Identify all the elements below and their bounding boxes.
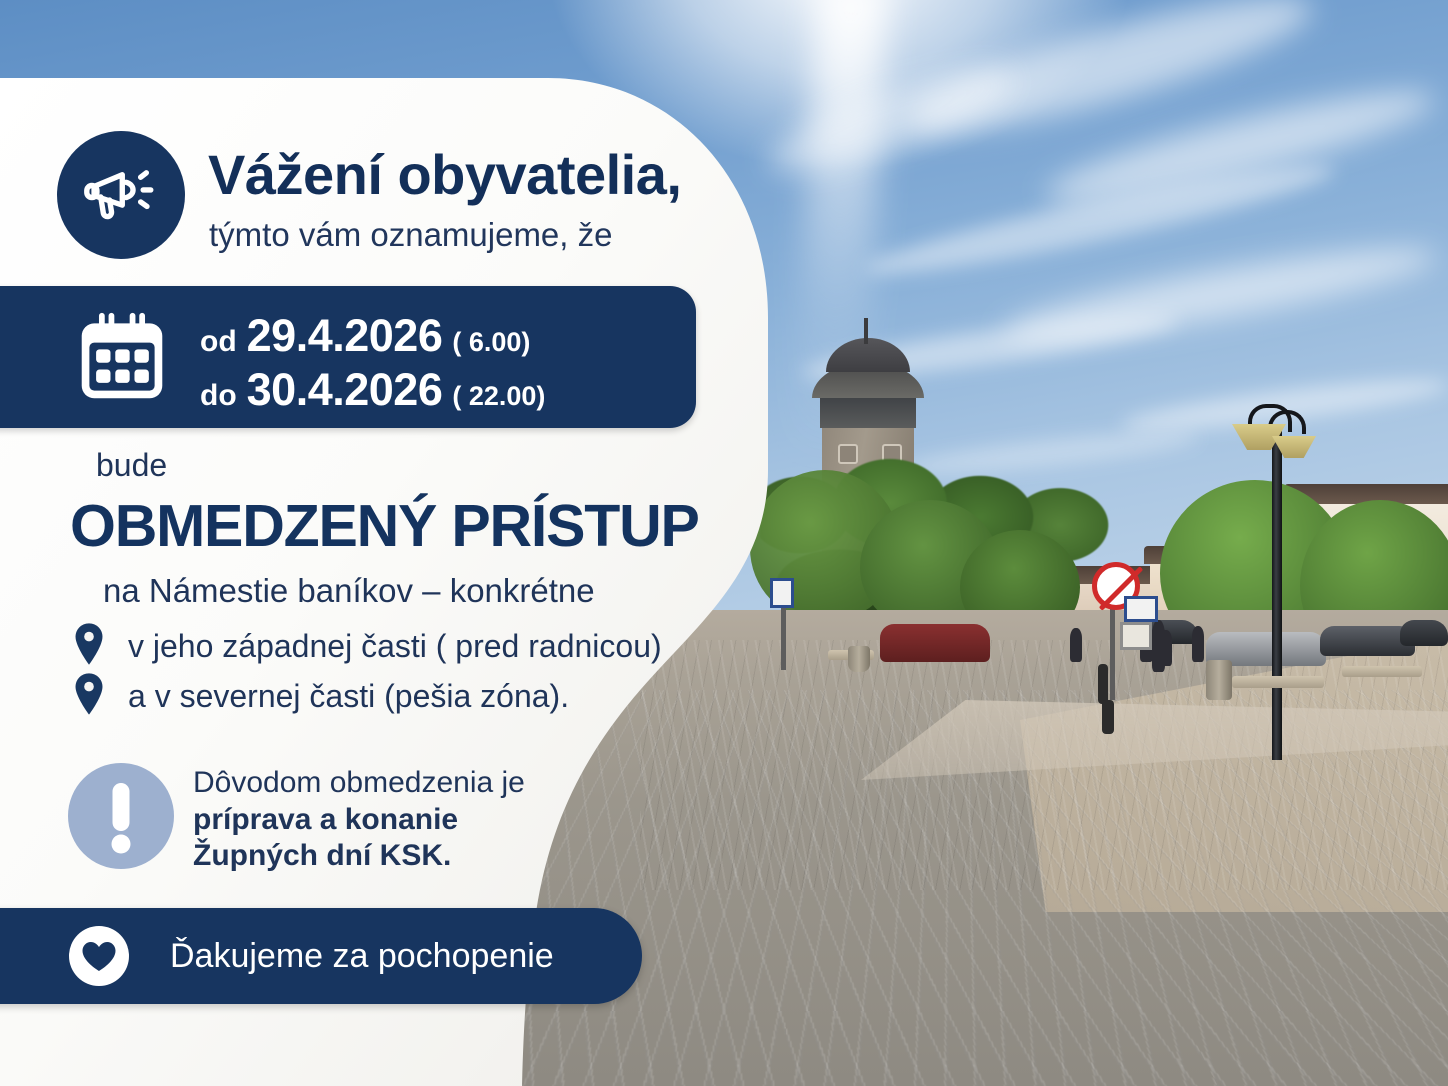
info-sign [1120,622,1152,650]
date-from-prefix: od [200,325,237,359]
date-from-row: od 29.4.2026 ( 6.00) [200,310,530,362]
date-to-value: 30.4.2026 [247,364,443,416]
map-pin-icon [72,672,106,721]
planter [848,646,870,672]
megaphone-icon [57,131,185,259]
date-from-value: 29.4.2026 [247,310,443,362]
reason-line-2: príprava a konanie [193,803,458,836]
bollard [1098,664,1108,704]
location-item-2: a v severnej časti (pešia zóna). [72,672,569,721]
pedestrian [1070,628,1082,662]
reason-line-1: Dôvodom obmedzenia je [193,765,525,802]
reason-block: Dôvodom obmedzenia je príprava a konanie… [193,765,525,875]
location-item-1-label: v jeho západnej časti ( pred radnicou) [128,628,662,665]
sign-post [781,600,786,670]
thanks-label: Ďakujeme za pochopenie [170,937,554,976]
date-to-prefix: do [200,379,237,413]
bollard [1102,700,1114,734]
date-to-row: do 30.4.2026 ( 22.00) [200,364,545,416]
announcement-lead: bude [96,447,167,484]
bench [1232,676,1324,688]
page-title: Vážení obyvatelia, [208,142,681,207]
reason-line-3: Župných dní KSK. [193,839,451,872]
date-to-time: ( 22.00) [452,381,545,412]
litter-bin [1206,660,1232,700]
pedestrian [1192,626,1204,662]
location-item-1: v jeho západnej časti ( pred radnicou) [72,622,662,671]
bench [1342,666,1422,677]
tower-belfry [820,394,916,428]
car [1400,620,1448,646]
calendar-icon [74,310,170,404]
location-item-2-label: a v severnej časti (pešia zóna). [128,678,569,715]
date-range-bar: od 29.4.2026 ( 6.00) do 30.4.2026 ( 22.0… [0,286,696,428]
map-pin-icon [72,622,106,671]
poster-notice: Vážení obyvatelia, týmto vám oznamujeme,… [0,0,1448,1086]
date-from-time: ( 6.00) [452,327,530,358]
announcement-headline: OBMEDZENÝ PRÍSTUP [70,492,699,560]
exclamation-icon [66,761,176,871]
tower-spire [864,318,868,344]
info-sign [1124,596,1158,622]
heart-icon [68,925,130,987]
car [880,624,990,662]
parking-sign [770,578,794,608]
page-subtitle: týmto vám oznamujeme, že [209,216,612,254]
announcement-place: na Námestie baníkov – konkrétne [103,572,595,610]
pedestrian [1152,620,1165,672]
thanks-bar: Ďakujeme za pochopenie [0,908,642,1004]
street-lamp-post [1272,430,1282,760]
